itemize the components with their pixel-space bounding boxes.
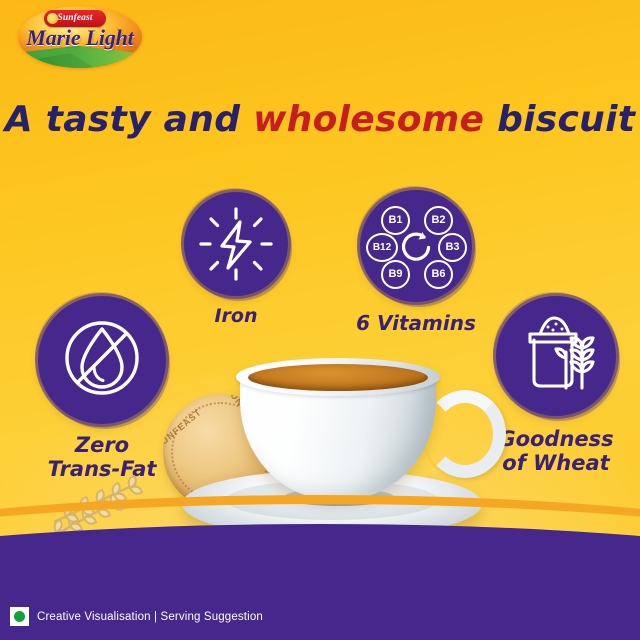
sun-icon: [47, 13, 58, 24]
lightning-bolt-icon: [184, 192, 288, 296]
vitamin-chip-b2: B2: [424, 206, 453, 235]
badge-label: Iron: [176, 306, 296, 327]
vitamin-chip-b9: B9: [381, 260, 410, 289]
badge-iron: Iron: [176, 192, 296, 327]
vitamin-chip-b12: B12: [366, 233, 398, 262]
vegetarian-mark-icon: [10, 607, 29, 626]
vitamin-chip-b6: B6: [424, 260, 453, 289]
sunfeast-label: Sunfeast: [57, 14, 92, 24]
veg-green-dot: [14, 611, 25, 622]
poster-canvas: Sunfeast Marie Light A tasty and wholeso…: [0, 0, 640, 640]
badge-label-line-1: Iron: [176, 306, 296, 327]
badge-disc: B1 B2 B3 B6 B9 B12: [360, 190, 472, 302]
headline-part-1: A tasty and: [5, 99, 253, 140]
marie-light-label: Marie Light: [18, 25, 142, 51]
badge-six-vitamins: B1 B2 B3 B6 B9 B12 6 Vitamins: [348, 190, 484, 334]
vitamin-chip-b1: B1: [381, 206, 410, 235]
footer-disclaimer-row: Creative Visualisation | Serving Suggest…: [10, 607, 263, 626]
page-title: A tasty and wholesome biscuit: [0, 99, 640, 140]
headline-highlight: wholesome: [253, 99, 484, 140]
tea-liquid: [248, 364, 428, 391]
footer-disclaimer-text: Creative Visualisation | Serving Suggest…: [37, 611, 263, 623]
brand-logo: Sunfeast Marie Light: [18, 6, 142, 68]
badge-disc: [184, 192, 288, 296]
headline-part-2: biscuit: [484, 99, 635, 140]
vitamin-chip-b3: B3: [438, 233, 467, 262]
cup-handle: [424, 390, 506, 478]
footer-band: Creative Visualisation | Serving Suggest…: [0, 578, 640, 640]
biscuit-emboss-label: SUNFEAST: [163, 407, 203, 451]
